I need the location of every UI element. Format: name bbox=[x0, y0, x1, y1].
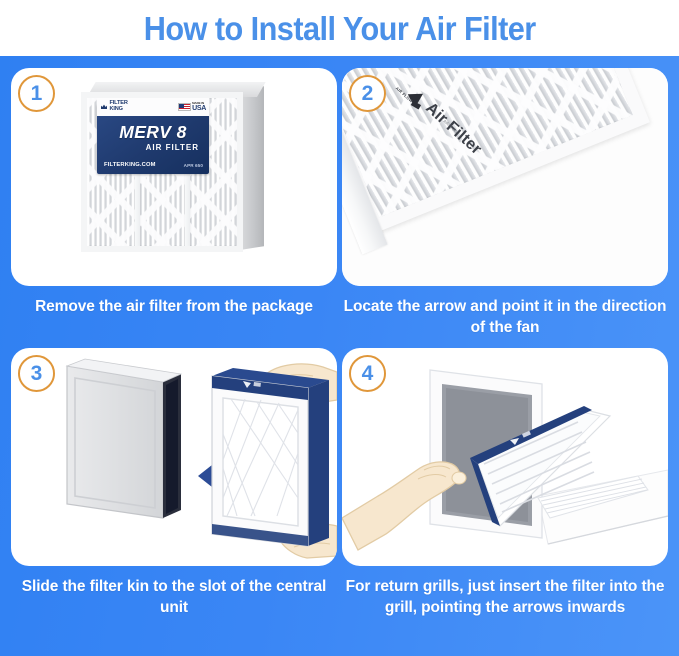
step-3-card: 3 bbox=[11, 348, 337, 566]
filter-tilted-group: AIR FLOW Air Filter AIRFLOW bbox=[342, 68, 668, 286]
step-3-art bbox=[11, 348, 337, 566]
step-4: 4 For return grills, just insert the fil… bbox=[342, 348, 668, 618]
air-filter-product-photo: MERV 8 AIR FILTER FILTERKING.COM APR 650 bbox=[79, 82, 264, 258]
central-unit-slot bbox=[67, 359, 181, 518]
merv-rating-text: MERV 8 bbox=[97, 124, 209, 142]
step-4-caption: For return grills, just insert the filte… bbox=[342, 577, 668, 618]
step-2-number: 2 bbox=[362, 83, 374, 104]
step-3-badge: 3 bbox=[18, 355, 55, 392]
filter-edge-arrow-photo: AIR FLOW Air Filter AIRFLOW bbox=[342, 68, 668, 286]
usa-flag-icon bbox=[178, 103, 191, 111]
step-4-art bbox=[342, 348, 668, 566]
made-in-usa-block: MADE IN USA bbox=[178, 102, 206, 112]
step-1-badge: 1 bbox=[18, 75, 55, 112]
step-2-badge: 2 bbox=[349, 75, 386, 112]
slide-filter-into-slot-illustration bbox=[11, 348, 337, 566]
step-2: AIR FLOW Air Filter AIRFLOW 2 Locate the… bbox=[342, 68, 668, 338]
step-2-caption: Locate the arrow and point it in the dir… bbox=[342, 297, 668, 338]
step-2-art: AIR FLOW Air Filter AIRFLOW bbox=[342, 68, 668, 286]
step-3-caption: Slide the filter kin to the slot of the … bbox=[11, 577, 337, 618]
filter-pleated-face bbox=[342, 68, 650, 235]
step-2-card: AIR FLOW Air Filter AIRFLOW 2 bbox=[342, 68, 668, 286]
step-3: 3 Slide the filter kin to the slot of th… bbox=[11, 348, 337, 618]
step-1-caption: Remove the air filter from the package bbox=[11, 297, 337, 318]
brand-name-block: FILTER KING bbox=[110, 101, 128, 112]
product-subtitle-text: AIR FILTER bbox=[97, 144, 199, 152]
infographic-root: How to Install Your Air Filter bbox=[0, 0, 679, 656]
usa-label: USA bbox=[192, 105, 206, 112]
label-header-strip: FILTER KING MADE IN USA bbox=[97, 98, 209, 116]
made-in-usa-text: MADE IN USA bbox=[192, 102, 206, 112]
label-bottom-row: FILTERKING.COM APR 650 bbox=[104, 163, 203, 169]
step-1-number: 1 bbox=[31, 83, 43, 104]
filter-king-logo: FILTER KING bbox=[100, 101, 128, 112]
step-1: MERV 8 AIR FILTER FILTERKING.COM APR 650 bbox=[11, 68, 337, 318]
step-4-card: 4 bbox=[342, 348, 668, 566]
step-1-art: MERV 8 AIR FILTER FILTERKING.COM APR 650 bbox=[11, 68, 337, 286]
step-1-card: MERV 8 AIR FILTER FILTERKING.COM APR 650 bbox=[11, 68, 337, 286]
step-3-number: 3 bbox=[31, 363, 43, 384]
step-4-number: 4 bbox=[362, 363, 374, 384]
filter-front-face: MERV 8 AIR FILTER FILTERKING.COM APR 650 bbox=[81, 92, 243, 252]
filter-depth-side bbox=[240, 86, 264, 250]
page-title: How to Install Your Air Filter bbox=[144, 12, 536, 45]
title-band: How to Install Your Air Filter bbox=[0, 0, 679, 56]
return-grill-insert-illustration bbox=[342, 348, 668, 566]
apr-rating-text: APR 650 bbox=[184, 164, 203, 169]
air-filter-blue-frame bbox=[212, 368, 329, 546]
step-4-badge: 4 bbox=[349, 355, 386, 392]
brand-name-line2: KING bbox=[110, 107, 128, 113]
brand-website-text: FILTERKING.COM bbox=[104, 163, 156, 169]
steps-grid: MERV 8 AIR FILTER FILTERKING.COM APR 650 bbox=[0, 56, 679, 656]
crown-icon bbox=[100, 103, 108, 111]
